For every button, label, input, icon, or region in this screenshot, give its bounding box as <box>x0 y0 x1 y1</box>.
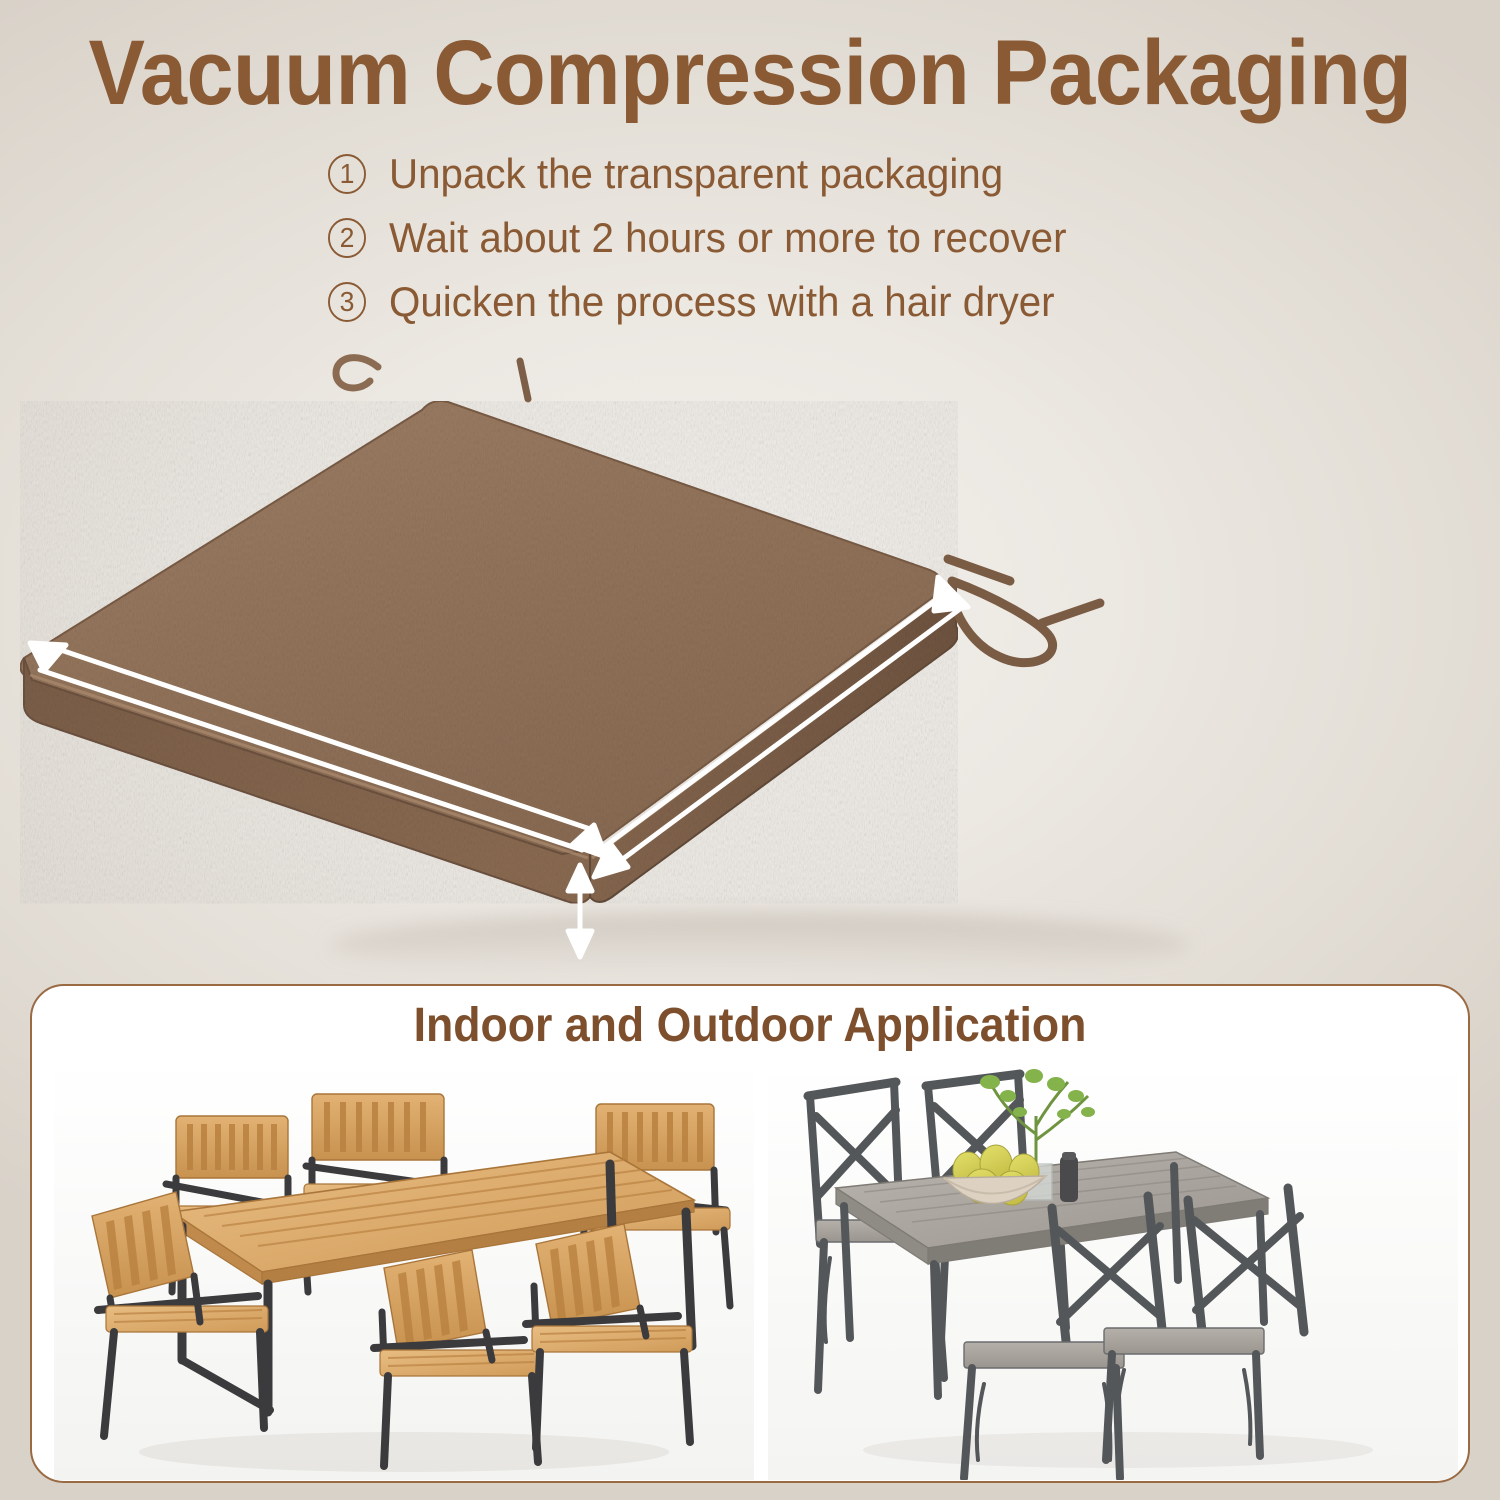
step-text: Quicken the process with a hair dryer <box>389 281 1055 323</box>
instruction-steps-list: 1 Unpack the transparent packaging 2 Wai… <box>0 142 1500 334</box>
tie-strap-bow <box>948 559 1100 663</box>
tie-strap-far <box>336 358 528 399</box>
list-item: 2 Wait about 2 hours or more to recover <box>0 206 1500 270</box>
outdoor-dining-set-photo <box>54 1060 754 1480</box>
application-panel-title: Indoor and Outdoor Application <box>82 1002 1417 1050</box>
product-hero-image: 20” 20” 20” 20” 2” 2” <box>0 345 1500 985</box>
cushion-body <box>20 401 958 903</box>
list-item: 3 Quicken the process with a hair dryer <box>0 270 1500 334</box>
step-number-badge: 3 <box>328 282 366 322</box>
application-panel: Indoor and Outdoor Application <box>30 984 1470 1483</box>
step-text: Unpack the transparent packaging <box>389 153 1003 195</box>
step-number-badge: 1 <box>328 154 366 194</box>
outdoor-dining-set-illustration <box>54 1060 754 1480</box>
header-section: Vacuum Compression Packaging 1 Unpack th… <box>0 0 1500 348</box>
cushion-top-face <box>20 401 942 856</box>
step-text: Wait about 2 hours or more to recover <box>389 217 1067 259</box>
infographic-page: Vacuum Compression Packaging 1 Unpack th… <box>0 0 1500 1500</box>
cushion-illustration <box>0 345 1500 985</box>
cushion-drop-shadow <box>330 911 1190 979</box>
step-number-badge: 2 <box>328 218 366 258</box>
pepper-mill <box>1060 1152 1078 1202</box>
indoor-dining-set-photo <box>768 1060 1458 1480</box>
page-title: Vacuum Compression Packaging <box>60 26 1440 122</box>
indoor-dining-set-illustration <box>768 1060 1458 1480</box>
list-item: 1 Unpack the transparent packaging <box>0 142 1500 206</box>
